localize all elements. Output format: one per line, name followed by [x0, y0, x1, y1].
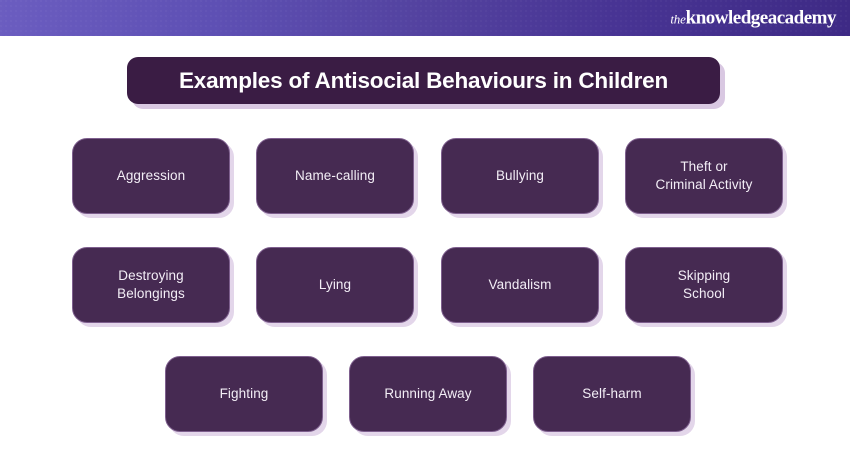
behaviour-box-label: Lying: [319, 276, 351, 294]
behaviour-box-label: Bullying: [496, 167, 544, 185]
title-banner: Examples of Antisocial Behaviours in Chi…: [127, 57, 720, 104]
behaviour-box[interactable]: Aggression: [72, 138, 230, 214]
behaviour-box[interactable]: Skipping School: [625, 247, 783, 323]
brand-logo-prefix: the: [670, 12, 685, 27]
behaviour-box-label: Fighting: [220, 385, 269, 403]
behaviour-box-label: Aggression: [117, 167, 186, 185]
page-header: theknowledgeacademy: [0, 0, 850, 36]
behaviour-box[interactable]: Name-calling: [256, 138, 414, 214]
behaviour-box-label: Name-calling: [295, 167, 375, 185]
brand-logo[interactable]: theknowledgeacademy: [670, 9, 836, 28]
behaviour-box[interactable]: Destroying Belongings: [72, 247, 230, 323]
behaviour-box[interactable]: Fighting: [165, 356, 323, 432]
behaviour-box[interactable]: Running Away: [349, 356, 507, 432]
behaviour-box-label: Theft or Criminal Activity: [656, 158, 753, 194]
page-title: Examples of Antisocial Behaviours in Chi…: [179, 68, 668, 94]
behaviour-box[interactable]: Lying: [256, 247, 414, 323]
behaviour-box[interactable]: Theft or Criminal Activity: [625, 138, 783, 214]
behaviour-box-label: Destroying Belongings: [117, 267, 185, 303]
brand-logo-name: knowledgeacademy: [686, 8, 836, 29]
behaviour-box-label: Self-harm: [582, 385, 641, 403]
behaviour-box-label: Skipping School: [678, 267, 731, 303]
behaviour-box[interactable]: Vandalism: [441, 247, 599, 323]
behaviour-box-label: Vandalism: [489, 276, 552, 294]
behaviour-box[interactable]: Bullying: [441, 138, 599, 214]
behaviour-box[interactable]: Self-harm: [533, 356, 691, 432]
behaviour-box-label: Running Away: [384, 385, 471, 403]
